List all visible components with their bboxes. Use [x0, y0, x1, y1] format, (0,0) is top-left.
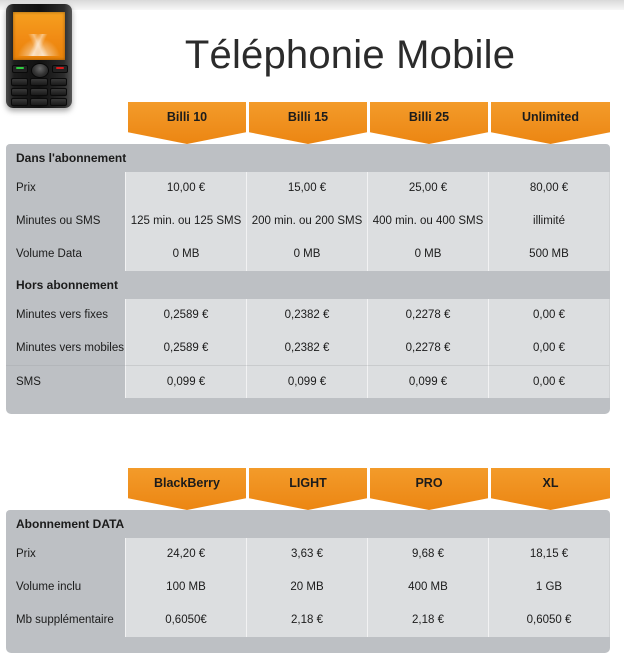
row-label: Minutes vers mobiles	[6, 332, 125, 365]
table-cell: 0,00 €	[488, 365, 610, 398]
table-cell: 25,00 €	[367, 172, 488, 205]
table-cell: 0,6050 €	[488, 604, 610, 637]
table-cell: 0,2589 €	[125, 332, 246, 365]
table-cell: 20 MB	[246, 571, 367, 604]
table-row: Minutes vers mobiles 0,2589 € 0,2382 € 0…	[6, 332, 610, 365]
table-cell: 24,20 €	[125, 538, 246, 571]
table-cell: 500 MB	[488, 238, 610, 271]
table-cell: 10,00 €	[125, 172, 246, 205]
table-cell: 2,18 €	[367, 604, 488, 637]
table-cell: 200 min. ou 200 SMS	[246, 205, 367, 238]
table-cell: 15,00 €	[246, 172, 367, 205]
plan-header-billi-15[interactable]: Billi 15	[249, 102, 367, 144]
keypad-key	[30, 98, 47, 106]
table-row: Prix 24,20 € 3,63 € 9,68 € 18,15 €	[6, 538, 610, 571]
row-label: Minutes ou SMS	[6, 205, 125, 238]
table-row: Volume Data 0 MB 0 MB 0 MB 500 MB	[6, 238, 610, 271]
table-cell: 2,18 €	[246, 604, 367, 637]
table-cell: 0,2278 €	[367, 299, 488, 332]
table-cell: 0,099 €	[367, 365, 488, 398]
table-row: Mb supplémentaire 0,6050€ 2,18 € 2,18 € …	[6, 604, 610, 637]
data-plan-header-row: BlackBerry LIGHT PRO XL	[128, 468, 610, 510]
table-cell: 0,00 €	[488, 332, 610, 365]
row-label: Volume inclu	[6, 571, 125, 604]
page-title: Téléphonie Mobile	[150, 33, 550, 78]
plan-header-pro[interactable]: PRO	[370, 468, 488, 510]
table-cell: 0,2589 €	[125, 299, 246, 332]
section-header-abonnement-data: Abonnement DATA	[6, 510, 610, 538]
table-row: Volume inclu 100 MB 20 MB 400 MB 1 GB	[6, 571, 610, 604]
voice-table-footer	[6, 398, 610, 414]
table-cell: 0,099 €	[125, 365, 246, 398]
table-row: Minutes ou SMS 125 min. ou 125 SMS 200 m…	[6, 205, 610, 238]
table-cell: 18,15 €	[488, 538, 610, 571]
table-cell: 3,63 €	[246, 538, 367, 571]
plan-header-xl[interactable]: XL	[491, 468, 610, 510]
keypad-key	[11, 78, 28, 86]
table-cell: 9,68 €	[367, 538, 488, 571]
table-cell: 0,2382 €	[246, 299, 367, 332]
phone-screen	[13, 12, 65, 60]
call-key-icon	[12, 65, 28, 73]
data-plans-table: Abonnement DATA Prix 24,20 € 3,63 € 9,68…	[6, 510, 610, 653]
table-cell: 80,00 €	[488, 172, 610, 205]
keypad-key	[50, 88, 67, 96]
table-cell: illimité	[488, 205, 610, 238]
section-header-dans-labonnement: Dans l'abonnement	[6, 144, 610, 172]
keypad-key	[11, 98, 28, 106]
table-cell: 1 GB	[488, 571, 610, 604]
table-cell: 0,00 €	[488, 299, 610, 332]
row-label: Mb supplémentaire	[6, 604, 125, 637]
table-cell: 0 MB	[125, 238, 246, 271]
keypad-key	[11, 88, 28, 96]
keypad-key	[30, 78, 47, 86]
plan-header-billi-25[interactable]: Billi 25	[370, 102, 488, 144]
row-label: Minutes vers fixes	[6, 299, 125, 332]
table-row: Minutes vers fixes 0,2589 € 0,2382 € 0,2…	[6, 299, 610, 332]
table-cell: 400 min. ou 400 SMS	[367, 205, 488, 238]
plan-header-unlimited[interactable]: Unlimited	[491, 102, 610, 144]
table-cell: 100 MB	[125, 571, 246, 604]
plan-header-light[interactable]: LIGHT	[249, 468, 367, 510]
plan-header-blackberry[interactable]: BlackBerry	[128, 468, 246, 510]
table-cell: 0,6050€	[125, 604, 246, 637]
row-label: Volume Data	[6, 238, 125, 271]
table-row: SMS 0,099 € 0,099 € 0,099 € 0,00 €	[6, 365, 610, 398]
row-label: Prix	[6, 538, 125, 571]
top-edge-strip	[0, 0, 624, 10]
keypad-key	[50, 78, 67, 86]
end-call-key-icon	[52, 65, 68, 73]
table-cell: 0 MB	[246, 238, 367, 271]
table-cell: 125 min. ou 125 SMS	[125, 205, 246, 238]
voice-plan-header-row: Billi 10 Billi 15 Billi 25 Unlimited	[128, 102, 610, 144]
table-cell: 0 MB	[367, 238, 488, 271]
table-cell: 0,2382 €	[246, 332, 367, 365]
row-label: Prix	[6, 172, 125, 205]
table-row: Prix 10,00 € 15,00 € 25,00 € 80,00 €	[6, 172, 610, 205]
section-header-hors-abonnement: Hors abonnement	[6, 271, 610, 299]
table-cell: 0,2278 €	[367, 332, 488, 365]
keypad-key	[30, 88, 47, 96]
mobile-phone-icon	[6, 4, 72, 108]
plan-header-billi-10[interactable]: Billi 10	[128, 102, 246, 144]
table-cell: 0,099 €	[246, 365, 367, 398]
phone-keypad	[11, 78, 67, 108]
data-table-footer	[6, 637, 610, 653]
row-label: SMS	[6, 365, 125, 398]
voice-plans-table: Dans l'abonnement Prix 10,00 € 15,00 € 2…	[6, 144, 610, 414]
table-cell: 400 MB	[367, 571, 488, 604]
keypad-key	[50, 98, 67, 106]
navigation-pad-icon	[31, 63, 49, 78]
